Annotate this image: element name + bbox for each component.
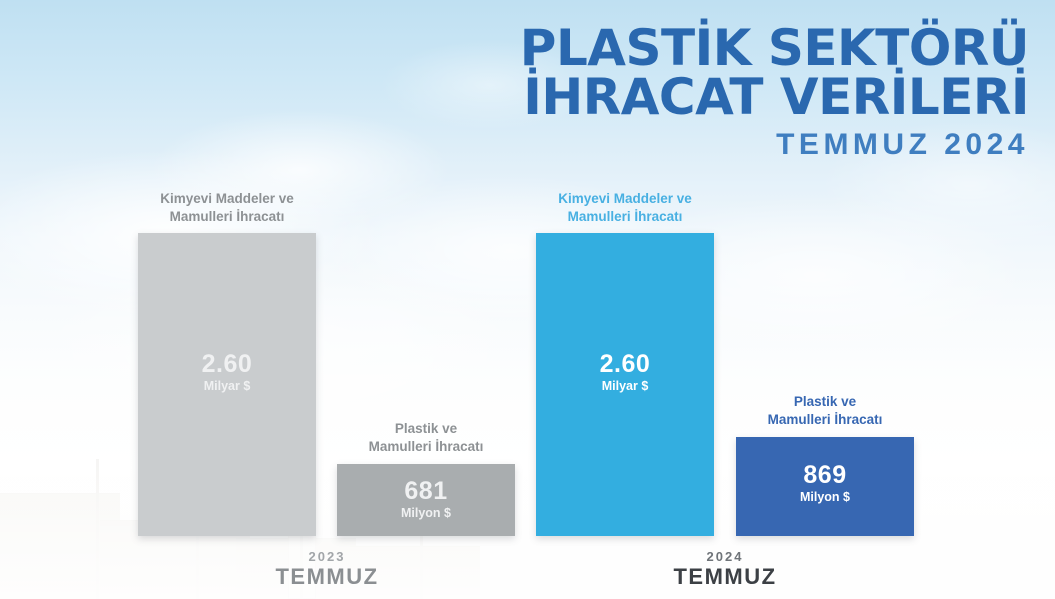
bar-caption-2023-plastik: Plastik ve Mamulleri İhracatı bbox=[337, 420, 515, 456]
axis-year-2024: 2024 bbox=[636, 549, 814, 564]
axis-year-2023: 2023 bbox=[238, 549, 416, 564]
bar-value-2023-kimyevi: 2.60 Milyar $ bbox=[138, 351, 316, 393]
bar-value-2024-plastik: 869 Milyon $ bbox=[736, 462, 914, 504]
infographic-root: PLASTİK SEKTÖRÜ İHRACAT VERİLERİ TEMMUZ … bbox=[0, 0, 1055, 599]
axis-month-2023: TEMMUZ bbox=[238, 564, 416, 590]
bar-caption-2023-kimyevi: Kimyevi Maddeler ve Mamulleri İhracatı bbox=[138, 190, 316, 226]
axis-label-2023: 2023 TEMMUZ bbox=[238, 549, 416, 590]
bar-2023-plastik[interactable]: 681 Milyon $ bbox=[337, 464, 515, 536]
bar-2024-kimyevi[interactable]: 2.60 Milyar $ bbox=[536, 233, 714, 536]
bar-2024-plastik[interactable]: 869 Milyon $ bbox=[736, 437, 914, 536]
bar-chart: Kimyevi Maddeler ve Mamulleri İhracatı 2… bbox=[0, 0, 1055, 599]
axis-month-2024: TEMMUZ bbox=[636, 564, 814, 590]
axis-label-2024: 2024 TEMMUZ bbox=[636, 549, 814, 590]
bar-caption-2024-plastik: Plastik ve Mamulleri İhracatı bbox=[736, 393, 914, 429]
bar-value-2024-kimyevi: 2.60 Milyar $ bbox=[536, 351, 714, 393]
bar-value-2023-plastik: 681 Milyon $ bbox=[337, 478, 515, 520]
bar-2023-kimyevi[interactable]: 2.60 Milyar $ bbox=[138, 233, 316, 536]
bar-caption-2024-kimyevi: Kimyevi Maddeler ve Mamulleri İhracatı bbox=[536, 190, 714, 226]
